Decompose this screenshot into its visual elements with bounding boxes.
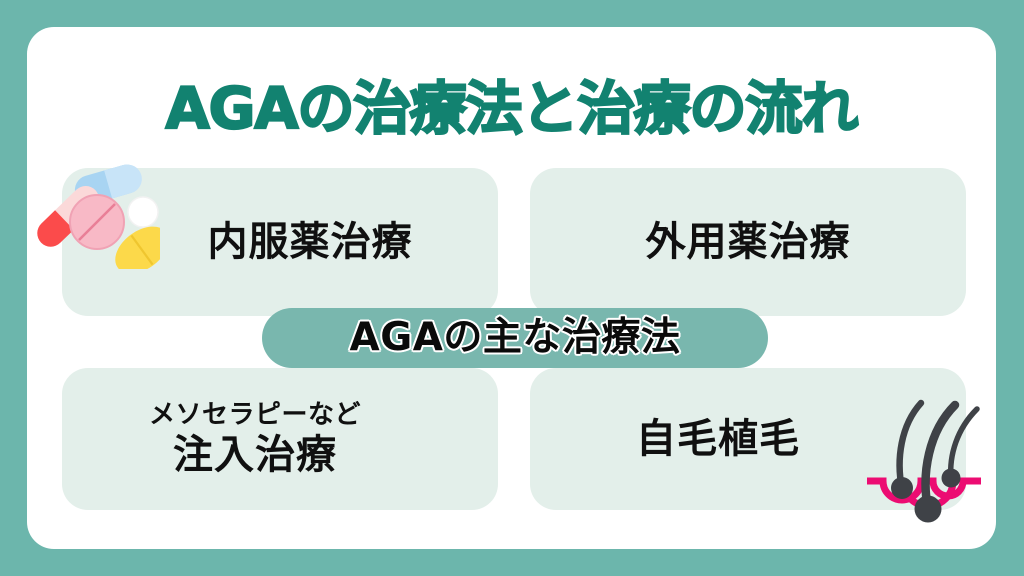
card-oral-medication[interactable]: 内服薬治療 xyxy=(62,168,498,316)
main-treatments-banner-label: AGAの主な治療法 xyxy=(350,316,681,360)
card-injection-therapy-label: 注入治療 xyxy=(173,431,337,479)
card-topical-medication-label: 外用薬治療 xyxy=(646,218,851,266)
card-injection-therapy-sublabel: メソセラピーなど xyxy=(149,399,361,431)
white-panel: AGAの治療法と治療の流れ 内服薬治療 外用薬治療 メソセラピーなど 注入治療 … xyxy=(27,27,996,549)
card-hair-transplant-label: 自毛植毛 xyxy=(636,415,800,463)
main-treatments-banner: AGAの主な治療法 xyxy=(262,308,768,368)
page-title: AGAの治療法と治療の流れ xyxy=(27,77,996,141)
poster-root: AGAの治療法と治療の流れ 内服薬治療 外用薬治療 メソセラピーなど 注入治療 … xyxy=(0,0,1024,576)
card-injection-therapy[interactable]: メソセラピーなど 注入治療 xyxy=(62,368,498,510)
card-oral-medication-label: 内服薬治療 xyxy=(208,218,413,266)
card-hair-transplant[interactable]: 自毛植毛 xyxy=(530,368,966,510)
card-topical-medication[interactable]: 外用薬治療 xyxy=(530,168,966,316)
